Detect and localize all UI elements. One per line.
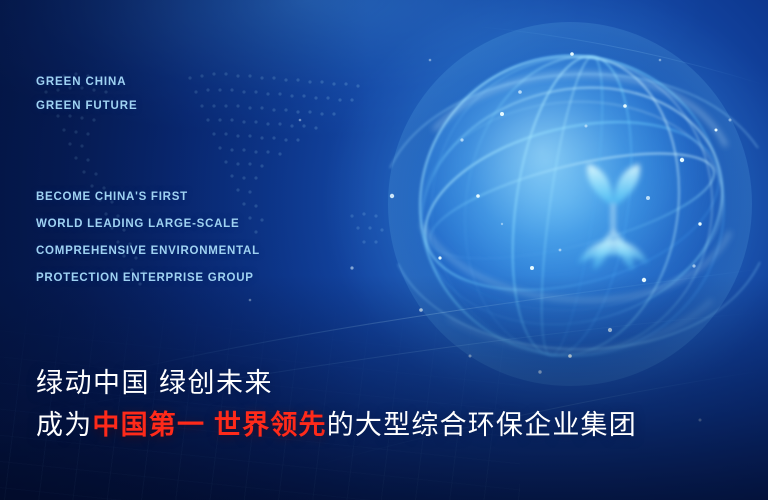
english-mission-line-2: WORLD LEADING LARGE-SCALE [36,211,260,238]
chinese-headline-block: 绿动中国 绿创未来 成为中国第一 世界领先的大型综合环保企业集团 [36,366,637,442]
english-tagline-line-1: GREEN CHINA [36,70,138,94]
chinese-headline-suffix: 的大型综合环保企业集团 [327,410,637,440]
english-mission-block: BECOME CHINA'S FIRST WORLD LEADING LARGE… [36,184,260,292]
chinese-headline-highlight: 中国第一 世界领先 [92,410,326,440]
english-mission-line-4: PROTECTION ENTERPRISE GROUP [36,265,260,292]
english-mission-line-3: COMPREHENSIVE ENVIRONMENTAL [36,238,260,265]
english-tagline-block: GREEN CHINA GREEN FUTURE [36,70,138,118]
english-tagline-line-2: GREEN FUTURE [36,94,138,118]
chinese-headline-prefix: 成为 [36,410,92,440]
hero-banner: GREEN CHINA GREEN FUTURE BECOME CHINA'S … [0,0,768,500]
chinese-headline-line-1: 绿动中国 绿创未来 [36,366,637,400]
chinese-headline-line-2: 成为中国第一 世界领先的大型综合环保企业集团 [36,408,637,442]
english-mission-line-1: BECOME CHINA'S FIRST [36,184,260,211]
